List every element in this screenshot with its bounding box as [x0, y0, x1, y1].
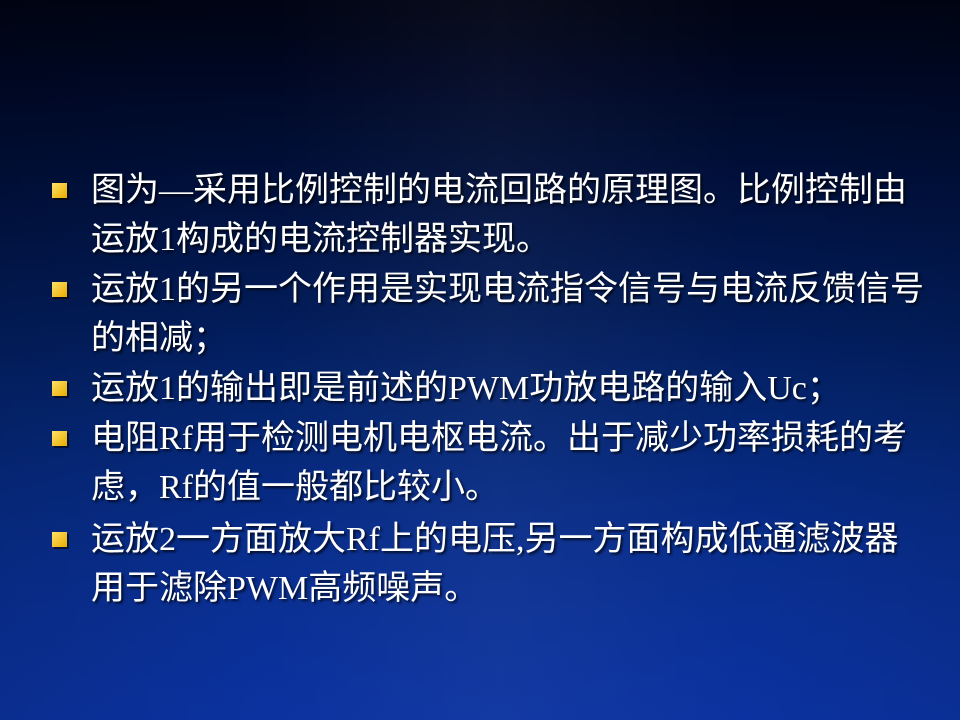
list-item: 运放1的另一个作用是实现电流指令信号与电流反馈信号的相减； [52, 265, 924, 363]
bullet-square-icon [52, 282, 67, 297]
bullet-square-icon [52, 532, 67, 547]
list-item: 运放1的输出即是前述的PWM功放电路的输入Uc； [52, 364, 924, 413]
bullet-list: 图为—采用比例控制的电流回路的原理图。比例控制由运放1构成的电流控制器实现。 运… [52, 166, 924, 613]
bullet-square-icon [52, 431, 67, 446]
bullet-item-text: 电阻Rf用于检测电机电枢电流。出于减少功率损耗的考虑，Rf的值一般都比较小。 [91, 414, 924, 512]
bullet-item-text: 运放2一方面放大Rf上的电压,另一方面构成低通滤波器用于滤除PWM高频噪声。 [91, 515, 924, 613]
list-item: 图为—采用比例控制的电流回路的原理图。比例控制由运放1构成的电流控制器实现。 [52, 166, 924, 264]
bullet-item-text: 运放1的输出即是前述的PWM功放电路的输入Uc； [91, 364, 924, 413]
presentation-slide: 图为—采用比例控制的电流回路的原理图。比例控制由运放1构成的电流控制器实现。 运… [0, 0, 960, 720]
bullet-item-text: 图为—采用比例控制的电流回路的原理图。比例控制由运放1构成的电流控制器实现。 [91, 166, 924, 264]
bullet-square-icon [52, 183, 67, 198]
list-item: 运放2一方面放大Rf上的电压,另一方面构成低通滤波器用于滤除PWM高频噪声。 [52, 515, 924, 613]
bullet-item-text: 运放1的另一个作用是实现电流指令信号与电流反馈信号的相减； [91, 265, 924, 363]
list-item: 电阻Rf用于检测电机电枢电流。出于减少功率损耗的考虑，Rf的值一般都比较小。 [52, 414, 924, 512]
bullet-square-icon [52, 381, 67, 396]
